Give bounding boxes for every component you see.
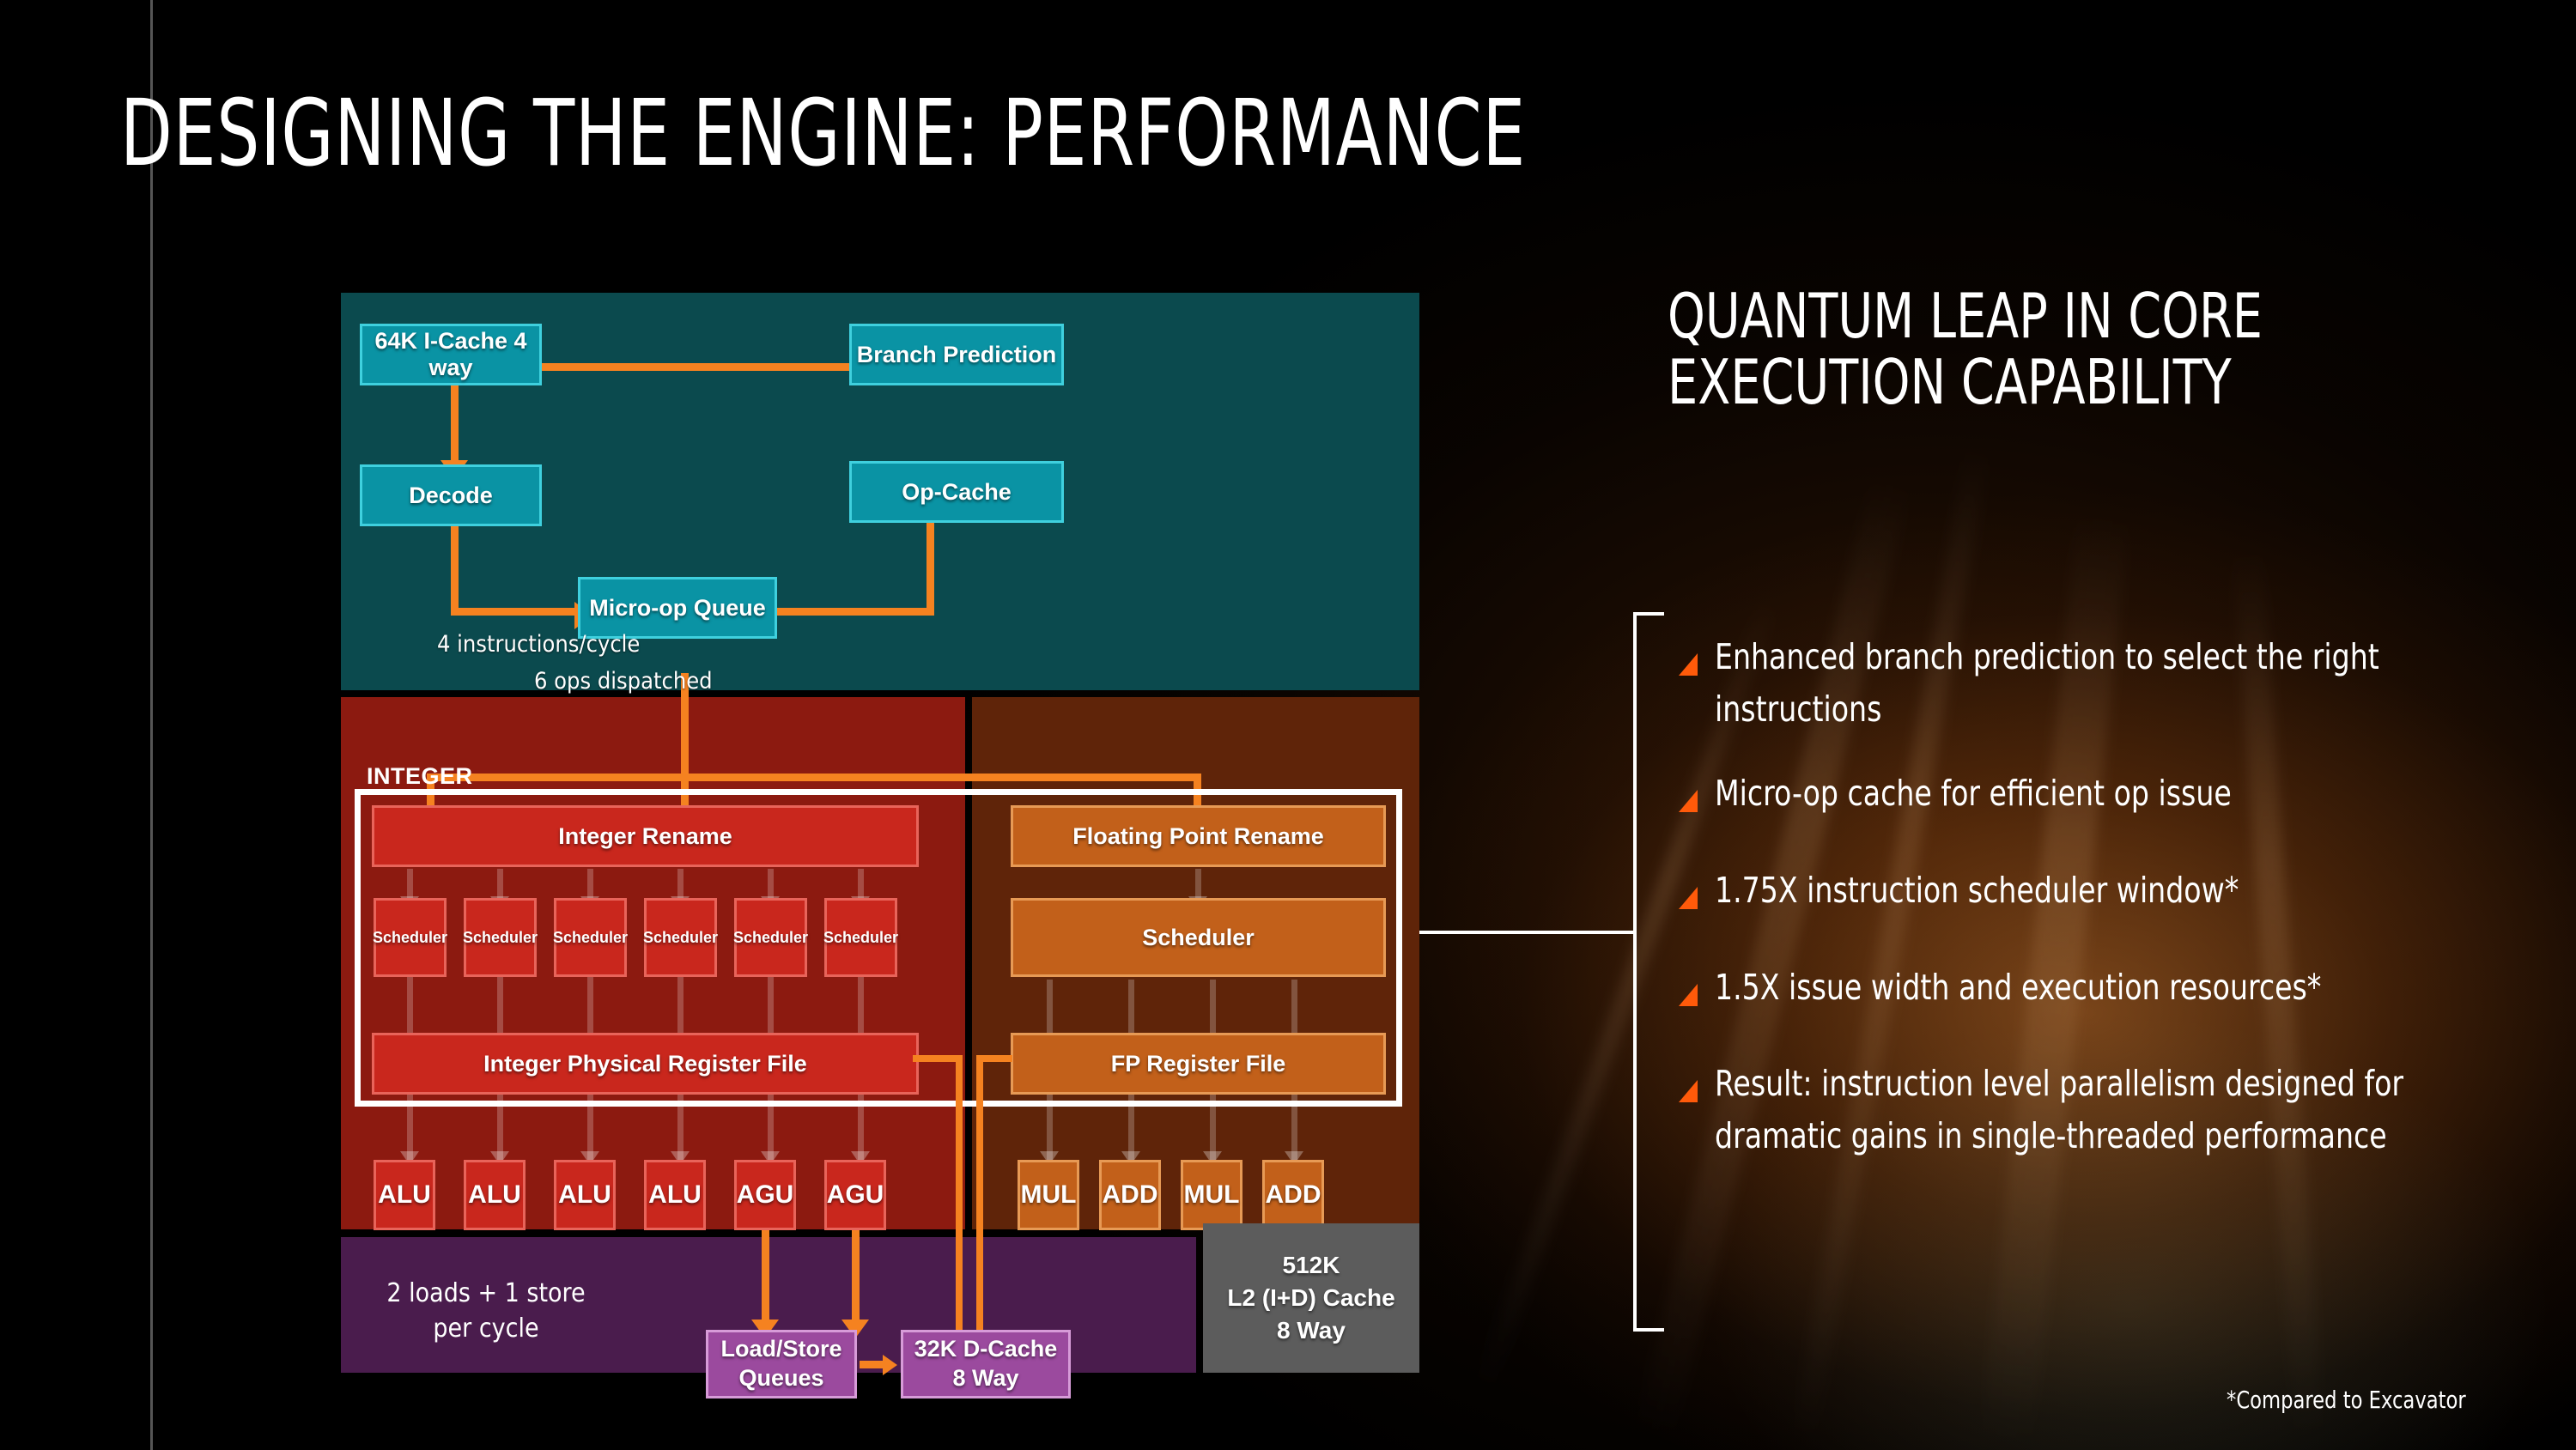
block-mul[interactable]: MUL	[1018, 1160, 1079, 1230]
label-ops-dispatched: 6 ops dispatched	[534, 668, 713, 695]
cpu-block-diagram: 64K I-Cache 4 way Branch Prediction Deco…	[341, 293, 1419, 1373]
bullet-text: Micro-op cache for efficient op issue	[1715, 767, 2455, 820]
block-icache[interactable]: 64K I-Cache 4 way	[360, 324, 542, 385]
block-agu[interactable]: AGU	[734, 1160, 796, 1230]
diagram-callout-line	[1397, 931, 1636, 934]
block-fp-register-file[interactable]: FP Register File	[1011, 1033, 1386, 1095]
arrow-opcache-down	[927, 523, 934, 616]
flow-line	[1195, 869, 1201, 900]
flow-line	[858, 869, 864, 900]
arrow-fprf-feedback	[976, 1055, 983, 1336]
block-integer-register-file[interactable]: Integer Physical Register File	[372, 1033, 919, 1095]
list-item: Micro-op cache for efficient op issue	[1679, 767, 2537, 820]
block-integer-scheduler[interactable]: Scheduler	[824, 898, 897, 977]
slide-canvas: DESIGNING THE ENGINE: PERFORMANCE QUANTU…	[0, 0, 2576, 1450]
left-vertical-rule	[150, 0, 153, 1450]
block-uop-queue[interactable]: Micro-op Queue	[578, 577, 777, 639]
arrow-opcache-left	[777, 608, 934, 616]
bullet-text: 1.75X instruction scheduler window*	[1715, 865, 2455, 917]
block-fp-scheduler[interactable]: Scheduler	[1011, 898, 1386, 977]
arrow-dispatch-down	[681, 673, 689, 823]
arrow-prf-feedback	[956, 1055, 963, 1336]
list-item: Enhanced branch prediction to select the…	[1679, 631, 2537, 735]
block-integer-rename[interactable]: Integer Rename	[372, 805, 919, 867]
bracket-connector	[1633, 612, 1664, 1332]
block-agu[interactable]: AGU	[824, 1160, 886, 1230]
arrow-lsq-to-dcache	[860, 1361, 885, 1368]
block-decode[interactable]: Decode	[360, 464, 542, 526]
block-integer-scheduler[interactable]: Scheduler	[374, 898, 447, 977]
arrowhead-right	[883, 1355, 897, 1375]
triangle-bullet-icon	[1679, 790, 1698, 812]
triangle-bullet-icon	[1679, 887, 1698, 909]
list-item: 1.5X issue width and execution resources…	[1679, 962, 2537, 1014]
label-instructions-per-cycle: 4 instructions/cycle	[437, 631, 640, 658]
block-integer-scheduler[interactable]: Scheduler	[554, 898, 627, 977]
integer-section-label: INTEGER	[367, 763, 473, 790]
page-title: DESIGNING THE ENGINE: PERFORMANCE	[120, 88, 1526, 180]
block-integer-scheduler[interactable]: Scheduler	[734, 898, 807, 977]
block-alu[interactable]: ALU	[644, 1160, 706, 1230]
block-branch-prediction[interactable]: Branch Prediction	[849, 324, 1064, 385]
list-item: 1.75X instruction scheduler window*	[1679, 865, 2537, 917]
arrow-dispatch-bus	[427, 774, 1201, 781]
bullet-text: 1.5X issue width and execution resources…	[1715, 962, 2455, 1014]
block-alu[interactable]: ALU	[464, 1160, 526, 1230]
block-mul[interactable]: MUL	[1181, 1160, 1242, 1230]
arrow-decode-right	[451, 608, 578, 616]
headline: QUANTUM LEAP IN CORE EXECUTION CAPABILIT…	[1668, 283, 2391, 416]
flow-line	[587, 869, 593, 900]
list-item: Result: instruction level parallelism de…	[1679, 1058, 2537, 1162]
block-integer-scheduler[interactable]: Scheduler	[644, 898, 717, 977]
bullet-text: Result: instruction level parallelism de…	[1715, 1058, 2455, 1162]
block-fp-rename[interactable]: Floating Point Rename	[1011, 805, 1386, 867]
arrow-decode-down	[451, 523, 459, 616]
block-alu[interactable]: ALU	[374, 1160, 435, 1230]
triangle-bullet-icon	[1679, 1080, 1698, 1102]
flow-line	[677, 869, 683, 900]
block-add[interactable]: ADD	[1262, 1160, 1324, 1230]
block-integer-scheduler[interactable]: Scheduler	[464, 898, 537, 977]
arrow-agu-to-lsq	[852, 1230, 860, 1332]
block-op-cache[interactable]: Op-Cache	[849, 461, 1064, 523]
triangle-bullet-icon	[1679, 984, 1698, 1006]
block-load-store-queues[interactable]: Load/StoreQueues	[706, 1330, 857, 1398]
label-loads-stores: 2 loads + 1 storeper cycle	[379, 1277, 593, 1346]
triangle-bullet-icon	[1679, 653, 1698, 676]
block-d-cache[interactable]: 32K D-Cache8 Way	[901, 1330, 1071, 1398]
block-add[interactable]: ADD	[1099, 1160, 1161, 1230]
bullet-list: Enhanced branch prediction to select the…	[1679, 631, 2537, 1195]
block-l2-cache[interactable]: 512KL2 (I+D) Cache8 Way	[1203, 1223, 1419, 1373]
footnote: *Compared to Excavator	[2227, 1386, 2466, 1414]
arrow-agu-to-lsq	[762, 1230, 769, 1332]
flow-line	[497, 869, 503, 900]
flow-line	[407, 869, 413, 900]
bullet-text: Enhanced branch prediction to select the…	[1715, 631, 2455, 735]
flow-line	[768, 869, 774, 900]
arrow-icache-to-decode	[451, 379, 459, 469]
block-alu[interactable]: ALU	[554, 1160, 616, 1230]
